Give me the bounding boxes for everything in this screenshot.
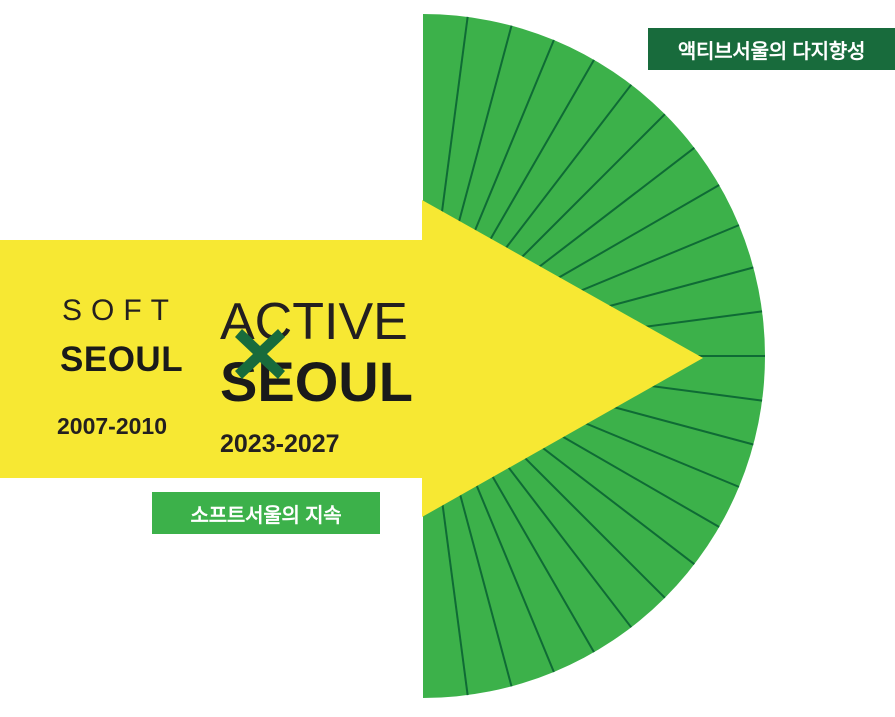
- diagram-composition: [0, 0, 895, 717]
- badge-active-seoul-multidirectionality[interactable]: 액티브서울의 다지향성: [648, 28, 895, 70]
- diagram-canvas: SOFT SEOUL 2007-2010 ACTIVE SEOUL 2023-2…: [0, 0, 895, 717]
- badge-soft-seoul-continuity[interactable]: 소프트서울의 지속: [152, 492, 380, 534]
